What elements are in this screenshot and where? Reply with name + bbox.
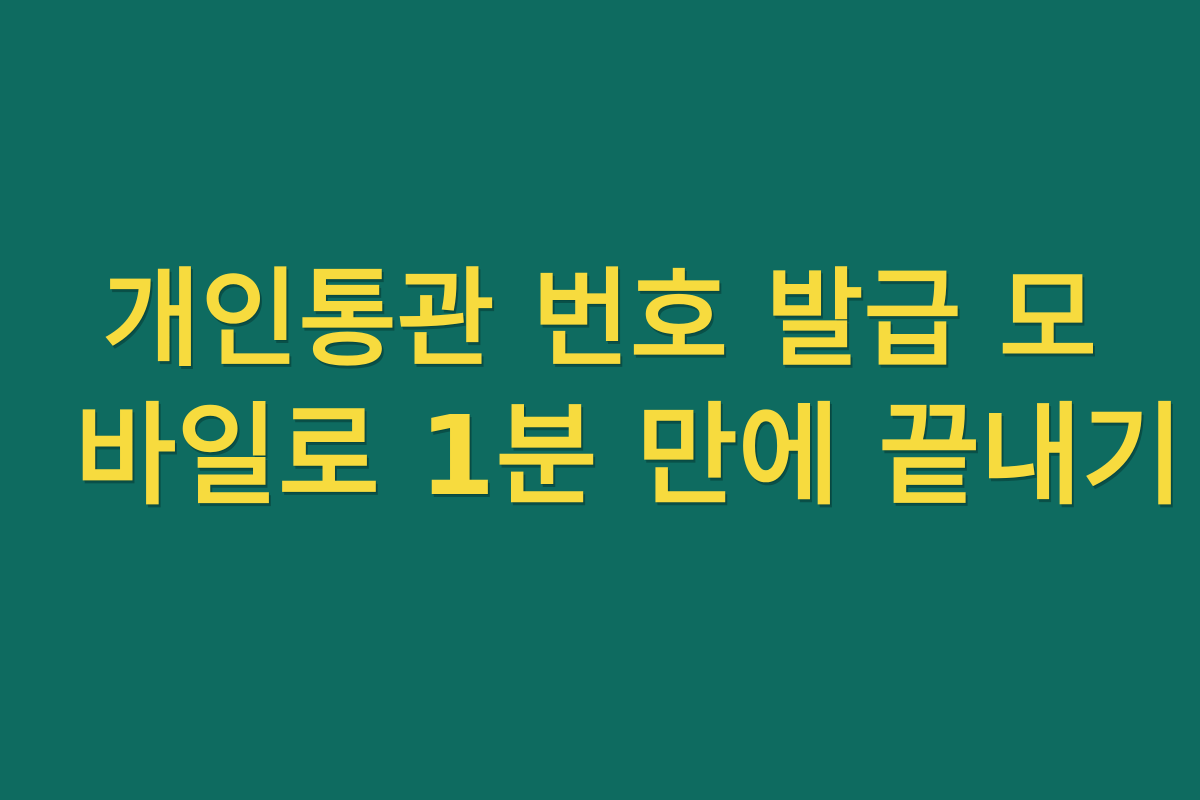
headline-line-1: 개인통관 번호 발급 모 (75, 252, 1125, 388)
headline-block: 개인통관 번호 발급 모 바일로 1분 만에 끝내기 (75, 252, 1125, 524)
headline-line-2: 바일로 1분 만에 끝내기 (75, 388, 1125, 524)
banner-canvas: 개인통관 번호 발급 모 바일로 1분 만에 끝내기 (0, 0, 1200, 800)
